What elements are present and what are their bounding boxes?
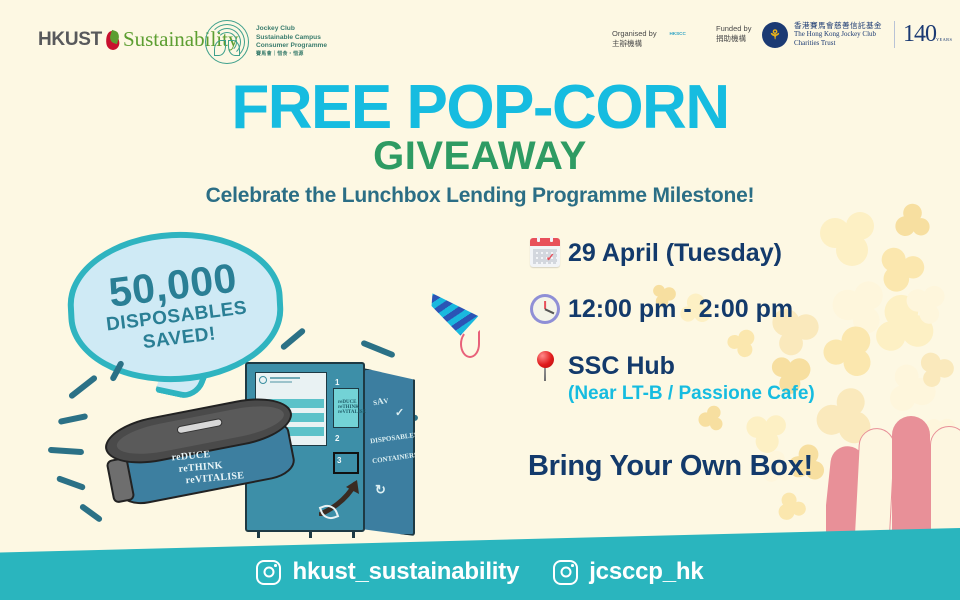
sunburst-line [48, 447, 84, 455]
step-3-label: 3 [337, 456, 341, 465]
lunchbox-vending-illustration: SAV DISPOSABLES CONTAINERS ↻ ✓ reDUCEreT… [60, 340, 460, 570]
clock-icon [522, 294, 568, 329]
jockey-club-seal-icon: ⚘ [762, 22, 788, 48]
step-2-label: 2 [335, 434, 339, 443]
event-detail-location: SSC Hub (Near LT-B / Passione Cafe) [522, 351, 942, 406]
jcsccp-line1: Jockey Club [256, 25, 327, 33]
organised-by-label: Organised by 主辦機構 [612, 29, 657, 49]
event-location-sub: (Near LT-B / Passione Cafe) [568, 382, 815, 406]
hkjc-charities-trust-logo: ⚘ 香港賽馬會慈善信託基金 The Hong Kong Jockey Club … [762, 21, 952, 49]
flame-leaf-icon [106, 29, 121, 50]
funded-by-block: Funded by 捐助機構 [716, 24, 751, 44]
jcsccp-line3: Consumer Programme [256, 42, 327, 50]
instagram-icon [256, 560, 281, 585]
instagram-icon [553, 560, 578, 585]
event-location-text: SSC Hub [568, 351, 815, 381]
organised-by-en: Organised by [612, 29, 657, 39]
calendar-icon: ✓ [522, 238, 568, 272]
party-popper-icon [432, 288, 486, 360]
anniversary-label: YEARS [936, 37, 952, 42]
step-1-label: 1 [335, 378, 339, 387]
vending-machine-side-panel: SAV DISPOSABLES CONTAINERS ↻ ✓ [363, 368, 415, 536]
trust-wordmark: 香港賽馬會慈善信託基金 The Hong Kong Jockey Club Ch… [794, 21, 882, 49]
trust-english-1: The Hong Kong Jockey Club [794, 30, 882, 39]
event-details-list: ✓ 29 April (Tuesday) 12:00 pm - 2:00 pm … [522, 238, 942, 428]
event-detail-date: ✓ 29 April (Tuesday) [522, 238, 942, 272]
subhead-giveaway: GIVEAWAY [0, 134, 960, 179]
instagram-username-hkust: hkust_sustainability [292, 558, 519, 586]
funded-by-cn: 捐助機構 [716, 34, 751, 44]
bring-your-own-box-callout: Bring Your Own Box! [528, 450, 813, 483]
lunchbox-slogan: reDUCE reTHINK reVITALISE [171, 446, 245, 488]
social-handles-row: hkust_sustainability jcsccp_hk [0, 544, 960, 600]
funded-by-en: Funded by [716, 24, 751, 34]
jcsccp-wordmark: Jockey Club Sustainable Campus Consumer … [256, 25, 327, 59]
sunburst-line [68, 374, 98, 400]
hkscc-label: HKSCC [669, 31, 685, 36]
tagline-milestone: Celebrate the Lunchbox Lending Programme… [0, 184, 960, 208]
vending-machine-screen[interactable]: reDUCEreTHINKreVITALISE [333, 388, 359, 428]
sunburst-line [56, 475, 86, 491]
jcsccp-line2: Sustainable Campus [256, 34, 327, 42]
poster-canvas: HKUST Sustainability Jockey Club Sustain… [0, 0, 960, 600]
circular-leaf-emblem-icon [205, 20, 249, 64]
headline-free-popcorn: FREE POP-CORN [0, 72, 960, 143]
trust-english-2: Charities Trust [794, 39, 882, 48]
hkscc-tree-icon: HKSCC [663, 22, 693, 56]
organised-by-cn: 主辦機構 [612, 39, 657, 49]
jcsccp-logo: Jockey Club Sustainable Campus Consumer … [205, 20, 327, 64]
sunburst-line [109, 360, 125, 382]
event-detail-time: 12:00 pm - 2:00 pm [522, 294, 942, 329]
sunburst-line [79, 503, 104, 523]
hkust-wordmark: HKUST [38, 29, 102, 51]
anniversary-140-mark: 140YEARS [894, 21, 952, 48]
event-date-text: 29 April (Tuesday) [568, 238, 782, 268]
trust-chinese: 香港賽馬會慈善信託基金 [794, 21, 882, 30]
jcsccp-chinese: 賽馬會｜惜食・惜源 [256, 50, 327, 58]
anniversary-number: 140 [903, 21, 936, 47]
sunburst-line [58, 413, 89, 425]
instagram-username-jcsccp: jcsccp_hk [589, 558, 703, 586]
organised-by-block: Organised by 主辦機構 HKSCC [612, 22, 693, 56]
logo-header-row: HKUST Sustainability Jockey Club Sustain… [0, 0, 960, 70]
instagram-handle-hkust[interactable]: hkust_sustainability [256, 558, 519, 586]
event-time-text: 12:00 pm - 2:00 pm [568, 294, 793, 324]
funded-by-label: Funded by 捐助機構 [716, 24, 751, 44]
instagram-handle-jcsccp[interactable]: jcsccp_hk [553, 558, 703, 586]
location-pin-icon [522, 351, 568, 386]
sunburst-line [360, 339, 396, 358]
